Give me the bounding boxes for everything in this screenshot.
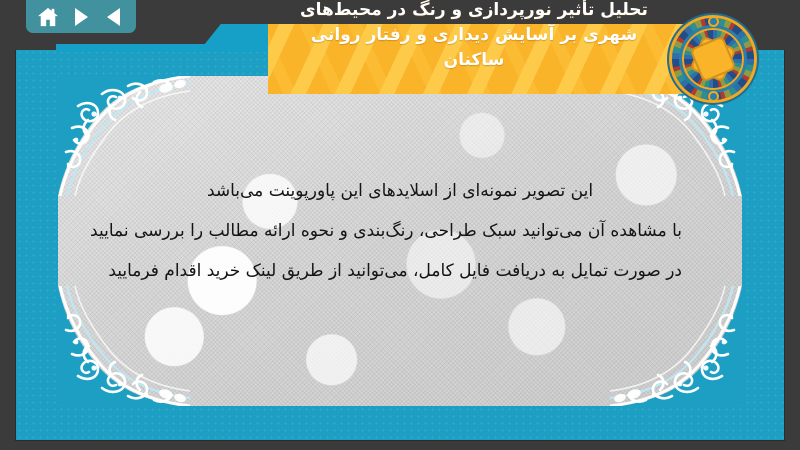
- navigation-bar[interactable]: [26, 0, 136, 33]
- slide-viewer: تحلیل تأثیر نورپردازی و رنگ در محیط‌های …: [0, 0, 800, 450]
- forward-button[interactable]: [67, 4, 95, 30]
- slide-body-line-2: با مشاهده آن می‌توانید سبک طراحی، رنگ‌بن…: [118, 211, 682, 251]
- back-button[interactable]: [100, 4, 128, 30]
- title-banner: [268, 24, 720, 94]
- slide-body-line-3: در صورت تمایل به دریافت فایل کامل، می‌تو…: [118, 251, 682, 291]
- persian-medallion-icon: [672, 18, 754, 100]
- medallion-knob-bottom: [708, 91, 719, 100]
- home-button[interactable]: [34, 4, 62, 30]
- home-icon: [37, 7, 59, 27]
- slide-body-line-1: این تصویر نمونه‌ای از اسلایدهای این پاور…: [118, 171, 682, 211]
- slide-body-text: این تصویر نمونه‌ای از اسلایدهای این پاور…: [118, 171, 682, 291]
- window-footer-bar: [0, 444, 800, 450]
- forward-arrow-icon: [75, 8, 88, 26]
- slide-content-area: این تصویر نمونه‌ای از اسلایدهای این پاور…: [58, 76, 742, 406]
- arabesque-corner-bottom-left: [58, 286, 190, 406]
- banner-chevron-pattern-secondary: [268, 24, 720, 94]
- back-arrow-icon: [107, 8, 120, 26]
- medallion-knob-top: [708, 18, 719, 27]
- presentation-slide: این تصویر نمونه‌ای از اسلایدهای این پاور…: [16, 42, 784, 440]
- arabesque-corner-bottom-right: [610, 286, 742, 406]
